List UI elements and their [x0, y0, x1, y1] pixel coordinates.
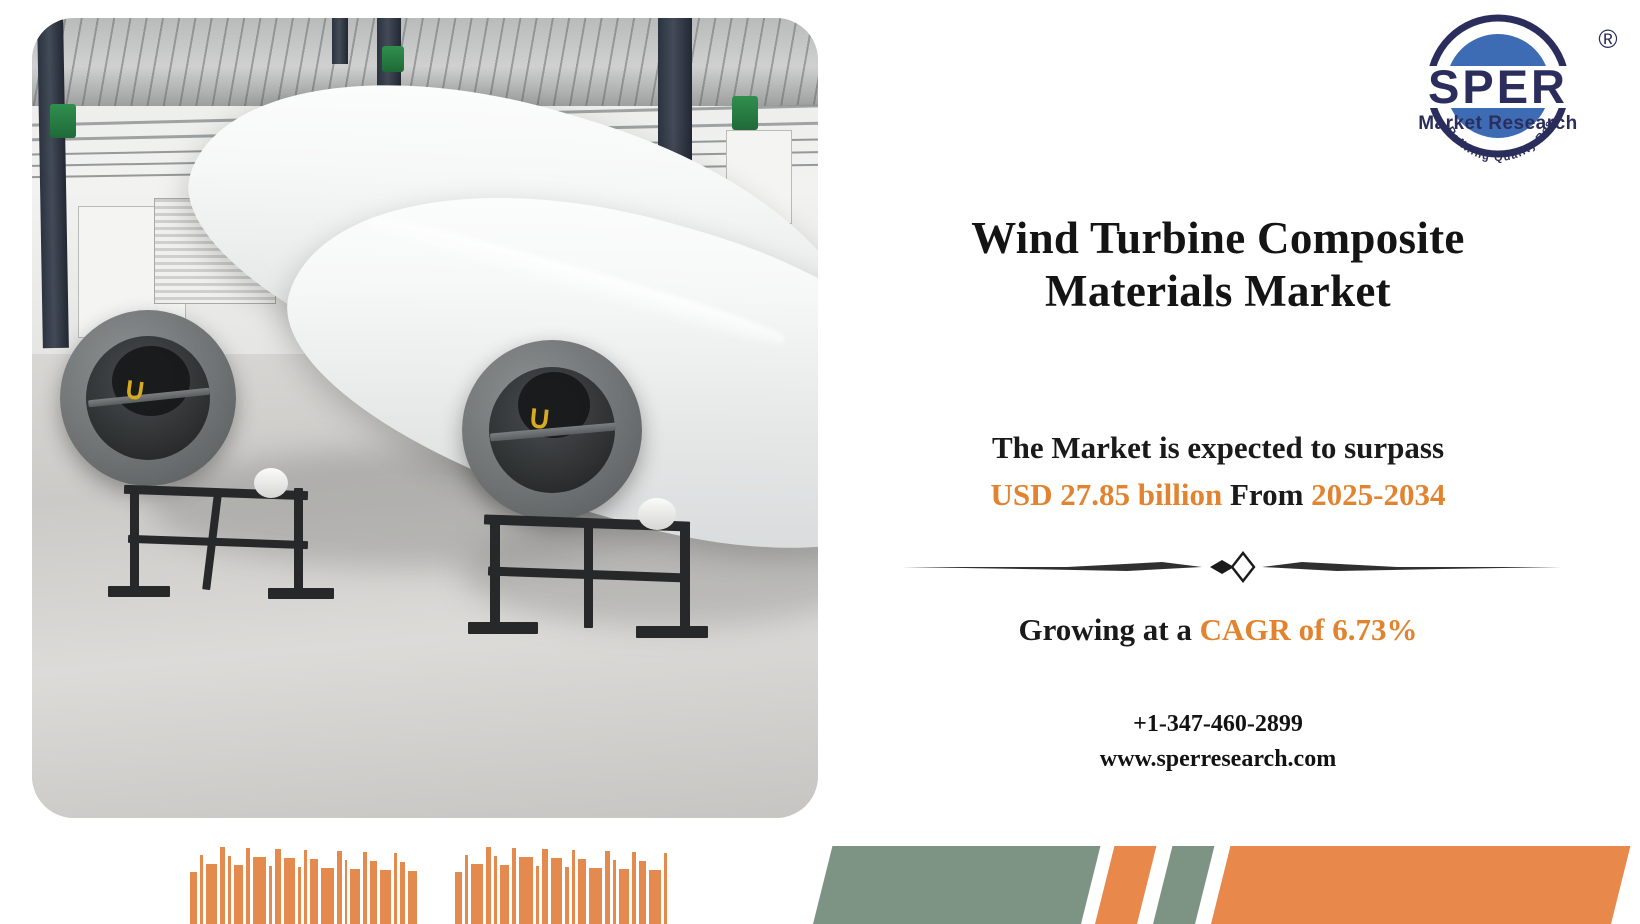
- market-connector: From: [1230, 477, 1303, 512]
- barcode-bar: [200, 855, 203, 924]
- barcode-bar: [578, 859, 586, 924]
- stand-foot: [468, 622, 538, 634]
- market-statement: The Market is expected to surpass USD 27…: [820, 424, 1616, 518]
- barcode-bar: [190, 872, 197, 924]
- barcode-bar: [649, 870, 661, 924]
- barcode-bar: [298, 867, 302, 924]
- cagr-statement: Growing at a CAGR of 6.73%: [820, 612, 1616, 648]
- barcode-bar: [394, 853, 397, 924]
- barcode-bar: [253, 857, 267, 924]
- barcode-bar: [350, 869, 360, 924]
- blade-root-flange-rear: ∪: [60, 310, 236, 486]
- barcode-bar: [269, 866, 272, 924]
- ornamental-divider: [902, 548, 1562, 584]
- factory-scene: ∪ ∪: [32, 18, 818, 818]
- barcode-bar: [551, 858, 562, 924]
- barcode-bar: [321, 868, 334, 924]
- blade-root-flange-front: ∪: [462, 340, 642, 520]
- stand-foot: [268, 588, 334, 599]
- stand-foot: [636, 626, 708, 638]
- ribbon-orange-wide: [1211, 846, 1630, 924]
- bottom-ribbon-decoration: [795, 836, 1640, 924]
- electrical-box: [732, 96, 758, 130]
- marketing-poster: ∪ ∪: [0, 0, 1640, 924]
- yellow-lifting-hook: ∪: [526, 397, 553, 437]
- barcode-bar: [380, 870, 392, 924]
- hero-photo: ∪ ∪: [32, 18, 818, 818]
- barcode-bar: [619, 869, 629, 924]
- market-value: USD 27.85 billion: [991, 477, 1223, 512]
- info-panel: SPER Market Research Refining Quality Re…: [820, 0, 1640, 924]
- barcode-bar: [536, 866, 539, 924]
- barcode-bar: [228, 856, 231, 924]
- title-line-1: Wind Turbine Composite: [820, 212, 1616, 265]
- sper-logo[interactable]: SPER Market Research Refining Quality Re…: [1380, 6, 1630, 168]
- barcode-bar: [246, 848, 250, 924]
- support-roller: [638, 498, 676, 530]
- barcode-bar: [408, 871, 417, 924]
- barcode-bar: [486, 847, 491, 924]
- barcode-bar: [363, 852, 367, 924]
- barcode-bar: [345, 860, 348, 924]
- barcode-bar: [500, 865, 509, 924]
- barcode-bar: [494, 856, 497, 924]
- page-title: Wind Turbine Composite Materials Market: [820, 212, 1616, 318]
- contact-block: +1-347-460-2899 www.sperresearch.com: [820, 707, 1616, 777]
- market-period: 2025-2034: [1311, 477, 1445, 512]
- contact-website[interactable]: www.sperresearch.com: [820, 742, 1616, 777]
- barcode-bar: [605, 851, 610, 924]
- barcode-bar: [275, 849, 281, 924]
- electrical-box: [50, 104, 76, 138]
- barcode-bar: [284, 858, 295, 924]
- barcode-bar: [465, 855, 468, 924]
- market-statement-values: USD 27.85 billion From 2025-2034: [820, 471, 1616, 518]
- barcode-bar: [234, 865, 243, 924]
- ribbon-green-thin: [1153, 846, 1214, 924]
- barcode-decoration-right: [455, 844, 673, 924]
- title-line-2: Materials Market: [820, 265, 1616, 318]
- barcode-bar: [565, 867, 569, 924]
- barcode-bar: [589, 868, 602, 924]
- barcode-bar: [664, 853, 667, 924]
- barcode-bar: [613, 860, 616, 924]
- electrical-box: [382, 46, 404, 72]
- logo-wordmark: SPER: [1428, 60, 1568, 113]
- barcode-bar: [471, 864, 483, 924]
- barcode-bar: [455, 872, 462, 924]
- structural-column: [332, 18, 348, 64]
- barcode-bar: [639, 861, 646, 924]
- barcode-bar: [632, 852, 636, 924]
- registered-mark-icon: ®: [1598, 24, 1617, 54]
- barcode-bar: [370, 861, 377, 924]
- barcode-bar: [206, 864, 218, 924]
- barcode-bar: [512, 848, 516, 924]
- contact-phone[interactable]: +1-347-460-2899: [820, 707, 1616, 742]
- barcode-bar: [337, 851, 342, 924]
- barcode-bar: [310, 859, 318, 924]
- ribbon-orange-thin: [1095, 846, 1156, 924]
- market-statement-lead: The Market is expected to surpass: [820, 424, 1616, 471]
- barcode-bar: [519, 857, 533, 924]
- barcode-bar: [572, 850, 575, 924]
- stand-foot: [108, 586, 170, 597]
- ribbon-green-wide: [813, 846, 1100, 924]
- barcode-bar: [400, 862, 405, 924]
- cagr-lead: Growing at a: [1019, 612, 1192, 647]
- barcode-bar: [220, 847, 225, 924]
- barcode-bar: [542, 849, 548, 924]
- support-roller: [254, 468, 288, 498]
- cagr-value: CAGR of 6.73%: [1200, 612, 1418, 647]
- barcode-bar: [304, 850, 307, 924]
- barcode-decoration-left: [190, 844, 420, 924]
